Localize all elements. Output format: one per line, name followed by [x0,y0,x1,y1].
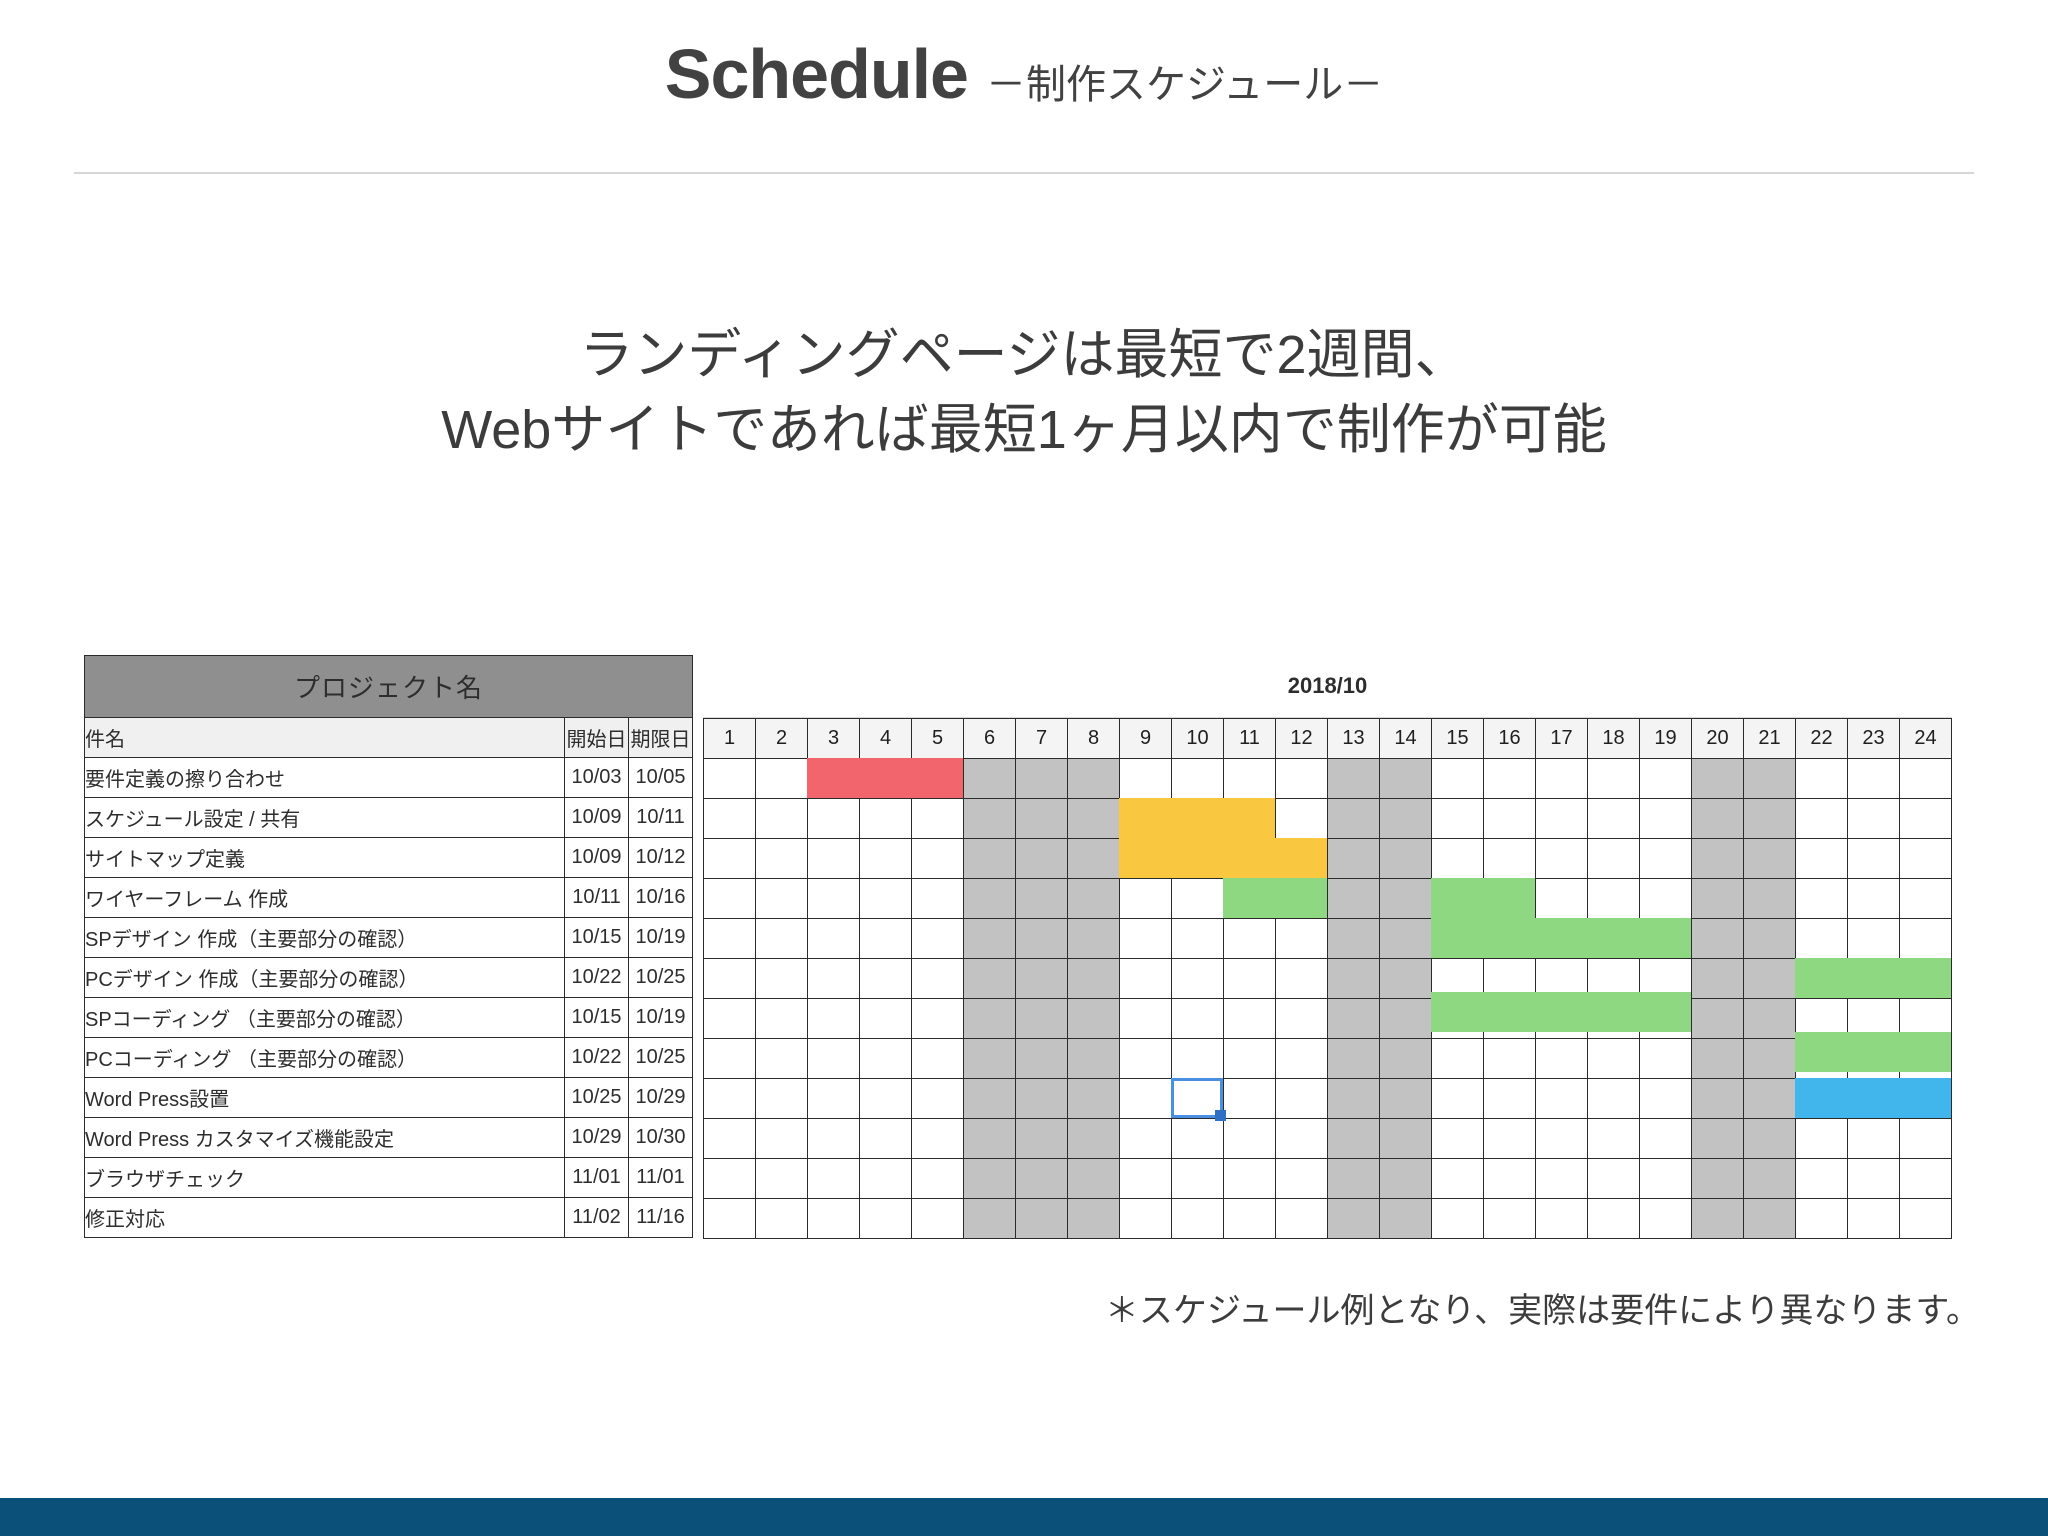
calendar-cell[interactable] [1016,1199,1068,1239]
calendar-cell[interactable] [1172,999,1224,1039]
calendar-cell[interactable] [1432,919,1484,959]
calendar-cell[interactable] [1172,919,1224,959]
calendar-cell[interactable] [1692,1199,1744,1239]
calendar-cell[interactable] [704,759,756,799]
calendar-cell[interactable] [1848,799,1900,839]
calendar-cell[interactable] [1276,1119,1328,1159]
calendar-cell[interactable] [1744,759,1796,799]
calendar-cell[interactable] [1744,959,1796,999]
calendar-cell[interactable] [1744,1039,1796,1079]
calendar-cell[interactable] [1744,799,1796,839]
calendar-cell[interactable] [1432,999,1484,1039]
calendar-cell[interactable] [1900,1079,1952,1119]
calendar-cell[interactable] [1484,1079,1536,1119]
calendar-cell[interactable] [1016,799,1068,839]
calendar-cell[interactable] [1692,959,1744,999]
calendar-cell[interactable] [912,759,964,799]
calendar-cell[interactable] [756,1039,808,1079]
calendar-cell[interactable] [1536,1159,1588,1199]
calendar-cell[interactable] [1068,1039,1120,1079]
calendar-cell[interactable] [1432,959,1484,999]
calendar-cell[interactable] [808,839,860,879]
calendar-cell[interactable] [1068,1159,1120,1199]
calendar-cell[interactable] [808,959,860,999]
calendar-cell[interactable] [1432,759,1484,799]
calendar-cell[interactable] [1068,1079,1120,1119]
table-row[interactable]: SPコーディング （主要部分の確認）10/1510/19 [85,998,693,1038]
calendar-cell[interactable] [1328,919,1380,959]
calendar-cell[interactable] [1588,1079,1640,1119]
calendar-cell[interactable] [1068,1119,1120,1159]
calendar-cell[interactable] [1380,1119,1432,1159]
calendar-cell[interactable] [1276,1079,1328,1119]
calendar-cell[interactable] [1900,759,1952,799]
calendar-cell[interactable] [1120,1159,1172,1199]
calendar-cell[interactable] [1484,759,1536,799]
calendar-cell[interactable] [1432,879,1484,919]
table-row[interactable]: 修正対応11/0211/16 [85,1198,693,1238]
calendar-cell[interactable] [1848,1119,1900,1159]
calendar-cell[interactable] [1848,1039,1900,1079]
calendar-cell[interactable] [964,959,1016,999]
calendar-cell[interactable] [1536,799,1588,839]
calendar-cell[interactable] [1744,919,1796,959]
calendar-cell[interactable] [860,919,912,959]
calendar-cell[interactable] [1172,759,1224,799]
calendar-cell[interactable] [1016,1079,1068,1119]
calendar-cell[interactable] [1120,1079,1172,1119]
calendar-cell[interactable] [756,1079,808,1119]
calendar-cell[interactable] [1744,1079,1796,1119]
calendar-cell[interactable] [704,799,756,839]
calendar-cell[interactable] [964,1199,1016,1239]
calendar-cell[interactable] [1536,1079,1588,1119]
calendar-cell[interactable] [1068,879,1120,919]
calendar-cell[interactable] [1120,999,1172,1039]
calendar-cell[interactable] [1276,999,1328,1039]
calendar-cell[interactable] [1588,839,1640,879]
calendar-cell[interactable] [1744,879,1796,919]
calendar-cell[interactable] [704,959,756,999]
calendar-cell[interactable] [1172,799,1224,839]
calendar-cell[interactable] [1484,1039,1536,1079]
calendar-cell[interactable] [1120,959,1172,999]
calendar-cell[interactable] [1744,1119,1796,1159]
calendar-cell[interactable] [860,1159,912,1199]
calendar-cell[interactable] [1380,1159,1432,1199]
calendar-cell[interactable] [1900,959,1952,999]
calendar-cell[interactable] [1900,1119,1952,1159]
calendar-cell[interactable] [1380,1079,1432,1119]
calendar-cell[interactable] [1016,879,1068,919]
calendar-cell[interactable] [1588,1039,1640,1079]
calendar-cell[interactable] [1120,839,1172,879]
table-row[interactable]: 要件定義の擦り合わせ10/0310/05 [85,758,693,798]
calendar-cell[interactable] [1848,1159,1900,1199]
calendar-cell[interactable] [1484,799,1536,839]
calendar-cell[interactable] [756,1199,808,1239]
calendar-cell[interactable] [964,1159,1016,1199]
calendar-cell[interactable] [1588,999,1640,1039]
calendar-cell[interactable] [704,919,756,959]
calendar-cell[interactable] [1172,1199,1224,1239]
calendar-cell[interactable] [1276,1159,1328,1199]
calendar-cell[interactable] [1796,839,1848,879]
calendar-cell[interactable] [860,1039,912,1079]
calendar-cell[interactable] [1276,1039,1328,1079]
calendar-cell[interactable] [912,1119,964,1159]
calendar-cell[interactable] [1692,879,1744,919]
calendar-cell[interactable] [1172,879,1224,919]
calendar-cell[interactable] [1172,959,1224,999]
calendar-cell[interactable] [964,879,1016,919]
calendar-cell[interactable] [1744,1199,1796,1239]
calendar-cell[interactable] [1120,1119,1172,1159]
calendar-cell[interactable] [1536,1039,1588,1079]
calendar-cell[interactable] [1796,999,1848,1039]
calendar-cell[interactable] [1848,999,1900,1039]
calendar-cell[interactable] [808,919,860,959]
calendar-cell[interactable] [1224,1159,1276,1199]
calendar-cell[interactable] [1016,999,1068,1039]
calendar-cell[interactable] [964,839,1016,879]
calendar-cell[interactable] [1328,1039,1380,1079]
calendar-cell[interactable] [1848,839,1900,879]
calendar-cell[interactable] [1536,959,1588,999]
calendar-cell[interactable] [1328,759,1380,799]
calendar-cell[interactable] [1224,999,1276,1039]
calendar-cell[interactable] [1536,999,1588,1039]
calendar-cell[interactable] [964,1119,1016,1159]
calendar-cell[interactable] [1640,1079,1692,1119]
calendar-cell[interactable] [1224,919,1276,959]
calendar-cell[interactable] [860,999,912,1039]
table-row[interactable]: PCコーディング （主要部分の確認）10/2210/25 [85,1038,693,1078]
calendar-cell[interactable] [1328,799,1380,839]
calendar-cell[interactable] [1900,1039,1952,1079]
calendar-cell[interactable] [1796,759,1848,799]
calendar-cell[interactable] [1224,959,1276,999]
calendar-cell[interactable] [1016,759,1068,799]
calendar-cell[interactable] [756,919,808,959]
calendar-cell[interactable] [1640,1039,1692,1079]
calendar-cell[interactable] [1640,839,1692,879]
calendar-cell[interactable] [808,759,860,799]
calendar-cell[interactable] [1068,999,1120,1039]
calendar-cell[interactable] [808,879,860,919]
calendar-cell[interactable] [912,799,964,839]
calendar-cell[interactable] [1224,1079,1276,1119]
calendar-cell[interactable] [1640,879,1692,919]
calendar-cell[interactable] [704,879,756,919]
calendar-cell[interactable] [1588,879,1640,919]
calendar-cell[interactable] [1640,759,1692,799]
calendar-cell[interactable] [1328,879,1380,919]
calendar-cell[interactable] [1328,959,1380,999]
calendar-cell[interactable] [1120,759,1172,799]
calendar-cell[interactable] [1588,1159,1640,1199]
calendar-cell[interactable] [1692,1039,1744,1079]
calendar-cell[interactable] [1380,759,1432,799]
calendar-cell[interactable] [1692,839,1744,879]
calendar-cell[interactable] [704,839,756,879]
calendar-cell[interactable] [964,759,1016,799]
calendar-cell[interactable] [1848,959,1900,999]
calendar-cell[interactable] [808,1079,860,1119]
calendar-cell[interactable] [1796,799,1848,839]
calendar-cell[interactable] [1848,919,1900,959]
table-row[interactable]: ワイヤーフレーム 作成10/1110/16 [85,878,693,918]
calendar-cell[interactable] [1224,759,1276,799]
calendar-cell[interactable] [756,879,808,919]
calendar-cell[interactable] [964,999,1016,1039]
calendar-cell[interactable] [860,839,912,879]
calendar-cell[interactable] [756,759,808,799]
calendar-cell[interactable] [704,1119,756,1159]
calendar-cell[interactable] [1744,839,1796,879]
calendar-cell[interactable] [1432,839,1484,879]
calendar-cell[interactable] [1432,1119,1484,1159]
calendar-cell[interactable] [1900,999,1952,1039]
calendar-cell[interactable] [1640,1199,1692,1239]
calendar-cell[interactable] [912,1039,964,1079]
table-row[interactable]: サイトマップ定義10/0910/12 [85,838,693,878]
calendar-cell[interactable] [756,839,808,879]
calendar-cell[interactable] [1328,1159,1380,1199]
calendar-cell[interactable] [808,1039,860,1079]
calendar-cell[interactable] [1276,919,1328,959]
calendar-cell[interactable] [860,799,912,839]
calendar-cell[interactable] [964,799,1016,839]
calendar-cell[interactable] [1432,1039,1484,1079]
calendar-cell[interactable] [1900,1199,1952,1239]
calendar-cell[interactable] [860,879,912,919]
calendar-cell[interactable] [1484,919,1536,959]
calendar-cell[interactable] [1848,1199,1900,1239]
calendar-cell[interactable] [1016,1039,1068,1079]
calendar-cell[interactable] [1484,959,1536,999]
calendar-cell[interactable] [1224,839,1276,879]
calendar-cell[interactable] [1588,1119,1640,1159]
calendar-cell[interactable] [1276,879,1328,919]
calendar-cell[interactable] [1068,839,1120,879]
table-row[interactable]: Word Press カスタマイズ機能設定10/2910/30 [85,1118,693,1158]
calendar-cell[interactable] [1380,839,1432,879]
table-row[interactable]: Word Press設置10/2510/29 [85,1078,693,1118]
calendar-cell[interactable] [1536,1119,1588,1159]
calendar-cell[interactable] [1536,1199,1588,1239]
calendar-cell[interactable] [1796,1079,1848,1119]
table-row[interactable]: SPデザイン 作成（主要部分の確認）10/1510/19 [85,918,693,958]
calendar-cell[interactable] [1068,759,1120,799]
calendar-cell[interactable] [1120,1039,1172,1079]
calendar-cell[interactable] [860,759,912,799]
calendar-cell[interactable] [1692,799,1744,839]
calendar-cell[interactable] [1276,839,1328,879]
calendar-cell[interactable] [1328,999,1380,1039]
calendar-cell[interactable] [1016,1119,1068,1159]
calendar-cell[interactable] [808,1159,860,1199]
calendar-cell[interactable] [808,1119,860,1159]
calendar-cell[interactable] [1484,999,1536,1039]
calendar-cell[interactable] [1120,1199,1172,1239]
calendar-cell[interactable] [1588,799,1640,839]
calendar-cell[interactable] [704,1079,756,1119]
calendar-cell[interactable] [1172,1159,1224,1199]
calendar-cell[interactable] [1484,1159,1536,1199]
calendar-cell[interactable] [808,799,860,839]
calendar-cell[interactable] [1640,1119,1692,1159]
table-row[interactable]: スケジュール設定 / 共有10/0910/11 [85,798,693,838]
calendar-cell[interactable] [1380,1199,1432,1239]
calendar-cell[interactable] [1536,879,1588,919]
table-row[interactable]: PCデザイン 作成（主要部分の確認）10/2210/25 [85,958,693,998]
calendar-cell[interactable] [1016,839,1068,879]
calendar-cell[interactable] [912,879,964,919]
calendar-cell[interactable] [1640,799,1692,839]
calendar-cell[interactable] [1224,799,1276,839]
calendar-cell[interactable] [1692,1159,1744,1199]
calendar-cell[interactable] [1796,1119,1848,1159]
calendar-cell[interactable] [1068,1199,1120,1239]
calendar-cell[interactable] [1640,999,1692,1039]
calendar-cell[interactable] [704,1199,756,1239]
calendar-cell[interactable] [860,1119,912,1159]
calendar-cell[interactable] [808,1199,860,1239]
calendar-cell[interactable] [756,1159,808,1199]
calendar-cell[interactable] [1380,959,1432,999]
calendar-cell[interactable] [1224,879,1276,919]
calendar-cell[interactable] [1380,1039,1432,1079]
calendar-cell[interactable] [1588,919,1640,959]
calendar-cell[interactable] [860,959,912,999]
calendar-cell[interactable] [704,1159,756,1199]
calendar-cell[interactable] [912,1199,964,1239]
calendar-cell[interactable] [1692,1119,1744,1159]
calendar-cell[interactable] [1068,799,1120,839]
calendar-cell[interactable] [1328,1199,1380,1239]
calendar-cell[interactable] [1380,879,1432,919]
calendar-cell[interactable] [1796,919,1848,959]
calendar-cell[interactable] [1224,1199,1276,1239]
calendar-cell[interactable] [860,1079,912,1119]
calendar-cell[interactable] [1276,1199,1328,1239]
calendar-cell[interactable] [756,1119,808,1159]
calendar-cell[interactable] [912,919,964,959]
calendar-cell[interactable] [1432,1079,1484,1119]
calendar-cell[interactable] [1224,1119,1276,1159]
calendar-cell[interactable] [1328,839,1380,879]
calendar-cell[interactable] [964,919,1016,959]
calendar-cell[interactable] [912,999,964,1039]
calendar-cell[interactable] [1172,839,1224,879]
calendar-cell[interactable] [1640,1159,1692,1199]
calendar-cell[interactable] [1016,959,1068,999]
calendar-cell[interactable] [1848,879,1900,919]
calendar-cell[interactable] [1016,1159,1068,1199]
calendar-cell[interactable] [1692,759,1744,799]
calendar-cell[interactable] [1380,999,1432,1039]
calendar-cell[interactable] [1432,1199,1484,1239]
table-row[interactable]: ブラウザチェック11/0111/01 [85,1158,693,1198]
calendar-cell[interactable] [1692,919,1744,959]
calendar-cell[interactable] [1172,1079,1224,1119]
calendar-cell[interactable] [1796,1159,1848,1199]
calendar-cell[interactable] [1692,999,1744,1039]
calendar-cell[interactable] [1536,919,1588,959]
calendar-cell[interactable] [1484,839,1536,879]
calendar-cell[interactable] [1484,879,1536,919]
calendar-cell[interactable] [964,1039,1016,1079]
calendar-cell[interactable] [1432,1159,1484,1199]
calendar-cell[interactable] [1016,919,1068,959]
calendar-cell[interactable] [1848,759,1900,799]
calendar-cell[interactable] [1588,1199,1640,1239]
calendar-cell[interactable] [1640,919,1692,959]
calendar-cell[interactable] [1900,1159,1952,1199]
calendar-cell[interactable] [1744,1159,1796,1199]
calendar-cell[interactable] [1328,1119,1380,1159]
calendar-cell[interactable] [1796,959,1848,999]
calendar-cell[interactable] [756,959,808,999]
calendar-cell[interactable] [704,999,756,1039]
calendar-cell[interactable] [1900,919,1952,959]
calendar-cell[interactable] [964,1079,1016,1119]
calendar-cell[interactable] [1640,959,1692,999]
calendar-cell[interactable] [704,1039,756,1079]
calendar-cell[interactable] [912,1079,964,1119]
calendar-cell[interactable] [1536,759,1588,799]
calendar-cell[interactable] [1068,959,1120,999]
calendar-cell[interactable] [1172,1119,1224,1159]
calendar-cell[interactable] [912,839,964,879]
calendar-cell[interactable] [860,1199,912,1239]
calendar-cell[interactable] [1068,919,1120,959]
calendar-cell[interactable] [756,799,808,839]
calendar-cell[interactable] [1484,1199,1536,1239]
calendar-cell[interactable] [1796,1199,1848,1239]
calendar-cell[interactable] [1120,919,1172,959]
calendar-cell[interactable] [1484,1119,1536,1159]
calendar-cell[interactable] [1432,799,1484,839]
calendar-cell[interactable] [1380,919,1432,959]
calendar-cell[interactable] [1900,839,1952,879]
calendar-cell[interactable] [1328,1079,1380,1119]
calendar-cell[interactable] [756,999,808,1039]
calendar-cell[interactable] [1120,799,1172,839]
calendar-cell[interactable] [1692,1079,1744,1119]
calendar-cell[interactable] [1848,1079,1900,1119]
calendar-cell[interactable] [912,959,964,999]
calendar-cell[interactable] [1120,879,1172,919]
calendar-cell[interactable] [1536,839,1588,879]
calendar-cell[interactable] [1380,799,1432,839]
calendar-cell[interactable] [1276,959,1328,999]
calendar-cell[interactable] [1224,1039,1276,1079]
calendar-cell[interactable] [1276,799,1328,839]
calendar-cell[interactable] [1900,879,1952,919]
calendar-cell[interactable] [808,999,860,1039]
calendar-cell[interactable] [1276,759,1328,799]
calendar-cell[interactable] [1172,1039,1224,1079]
calendar-cell[interactable] [1796,1039,1848,1079]
calendar-cell[interactable] [1588,959,1640,999]
calendar-cell[interactable] [1796,879,1848,919]
calendar-cell[interactable] [1588,759,1640,799]
calendar-cell[interactable] [912,1159,964,1199]
calendar-cell[interactable] [1900,799,1952,839]
calendar-cell[interactable] [1744,999,1796,1039]
